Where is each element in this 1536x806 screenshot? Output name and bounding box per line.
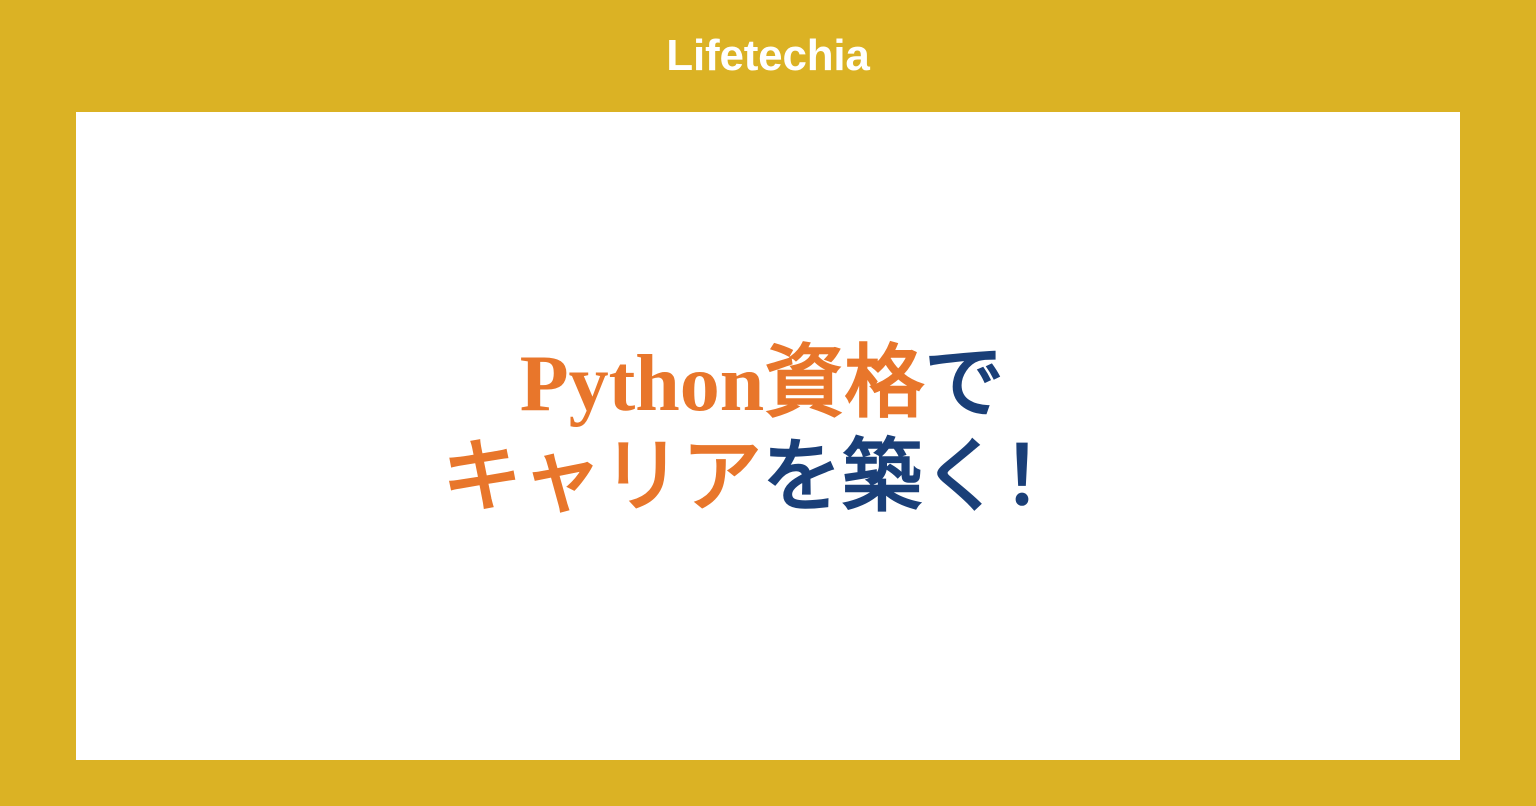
headline-line-2-orange-segment: キャリア xyxy=(442,434,762,522)
content-card: Python資格で キャリアを築く！ xyxy=(76,112,1460,760)
header-band: Lifetechia xyxy=(0,0,1536,112)
headline-line-1-navy-segment: で xyxy=(924,340,1004,428)
headline: Python資格で キャリアを築く！ xyxy=(64,337,1460,526)
headline-line-2-navy-segment: を築く！ xyxy=(762,434,1082,522)
headline-line-2: キャリアを築く！ xyxy=(64,431,1460,525)
card-inner: Python資格で キャリアを築く！ xyxy=(76,337,1460,526)
headline-line-1-orange-segment: Python資格 xyxy=(520,340,925,428)
headline-line-1: Python資格で xyxy=(64,337,1460,431)
thumbnail-canvas: Lifetechia Python資格で キャリアを築く！ xyxy=(0,0,1536,806)
site-title: Lifetechia xyxy=(666,34,869,78)
